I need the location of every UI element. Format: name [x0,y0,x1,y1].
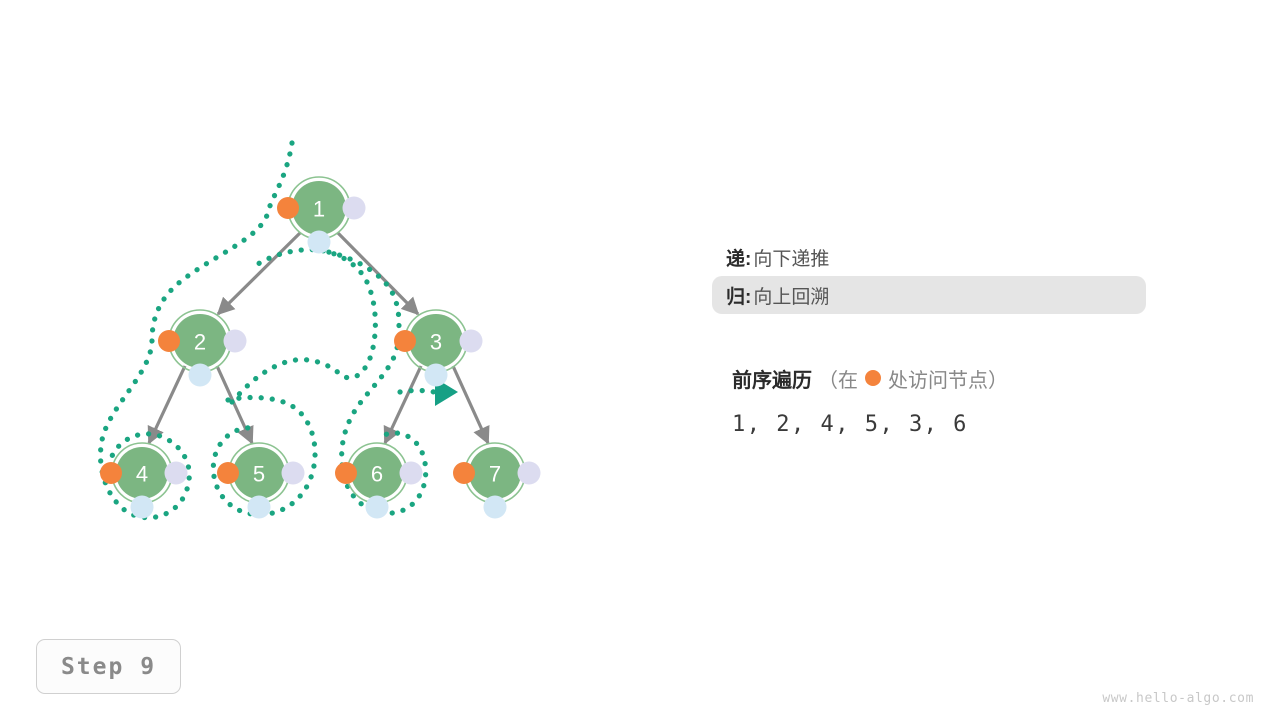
legend-value-recurse: 向下递推 [753,244,829,271]
traversal-title: 前序遍历 [732,364,812,393]
node-right-dot [343,197,366,220]
edge-3-6 [385,366,421,443]
tree-node-7[interactable]: 7 [453,443,541,519]
node-label: 3 [430,330,442,355]
legend-row-return: 归: 向上回溯 [712,276,1146,314]
step-badge: Step 9 [36,639,181,694]
node-label: 4 [136,462,148,487]
node-right-dot [460,330,483,353]
traversal-note-prefix: （在 [818,364,858,393]
node-right-dot [518,462,541,485]
illustration-canvas: 1 2 3 [0,0,1280,720]
recursion-legend: 递: 向下递推 归: 向上回溯 [726,238,1146,314]
node-label: 7 [489,462,501,487]
legend-key-return: 归: [726,282,751,309]
node-visit-dot [453,462,475,484]
node-right-dot [224,330,247,353]
node-right-dot [165,462,188,485]
node-bottom-dot [308,231,331,254]
node-bottom-dot [189,364,212,387]
tree-nodes: 1 2 3 [100,177,541,519]
node-label: 1 [313,197,325,222]
node-right-dot [400,462,423,485]
node-visit-dot [100,462,122,484]
tree-node-2[interactable]: 2 [158,310,247,387]
node-bottom-dot [425,364,448,387]
path-segment-current-tail [400,391,434,393]
node-visit-dot [277,197,299,219]
visit-dot-icon [865,370,881,386]
traversal-sequence: 1, 2, 4, 5, 3, 6 [732,412,1192,437]
step-badge-label: Step 9 [61,654,156,680]
watermark: www.hello-algo.com [1102,691,1254,706]
node-label: 5 [253,462,265,487]
node-visit-dot [158,330,180,352]
node-bottom-dot [484,496,507,519]
legend-row-recurse: 递: 向下递推 [712,238,1146,276]
node-label: 2 [194,330,206,355]
node-bottom-dot [366,496,389,519]
legend-key-recurse: 递: [726,244,751,271]
node-visit-dot [394,330,416,352]
traversal-note: （在 处访问节点） [818,364,1008,393]
edge-3-7 [453,366,488,443]
traversal-note-suffix: 处访问节点） [888,364,1008,393]
node-right-dot [282,462,305,485]
node-bottom-dot [131,496,154,519]
tree-node-6[interactable]: 6 [335,443,423,519]
edge-2-5 [217,366,252,443]
node-visit-dot [217,462,239,484]
edge-2-4 [149,366,185,443]
edge-1-3 [338,233,418,314]
node-bottom-dot [248,496,271,519]
binary-tree-diagram: 1 2 3 [0,0,1280,720]
node-label: 6 [371,462,383,487]
legend-value-return: 向上回溯 [753,282,829,309]
traversal-title-row: 前序遍历 （在 处访问节点） [732,362,1192,394]
node-visit-dot [335,462,357,484]
path-segment-ascend-to-root [232,250,375,402]
traversal-order-block: 前序遍历 （在 处访问节点） 1, 2, 4, 5, 3, 6 [732,362,1192,437]
watermark-text: www.hello-algo.com [1102,691,1254,706]
tree-node-3[interactable]: 3 [394,310,483,387]
edge-1-2 [218,233,300,314]
